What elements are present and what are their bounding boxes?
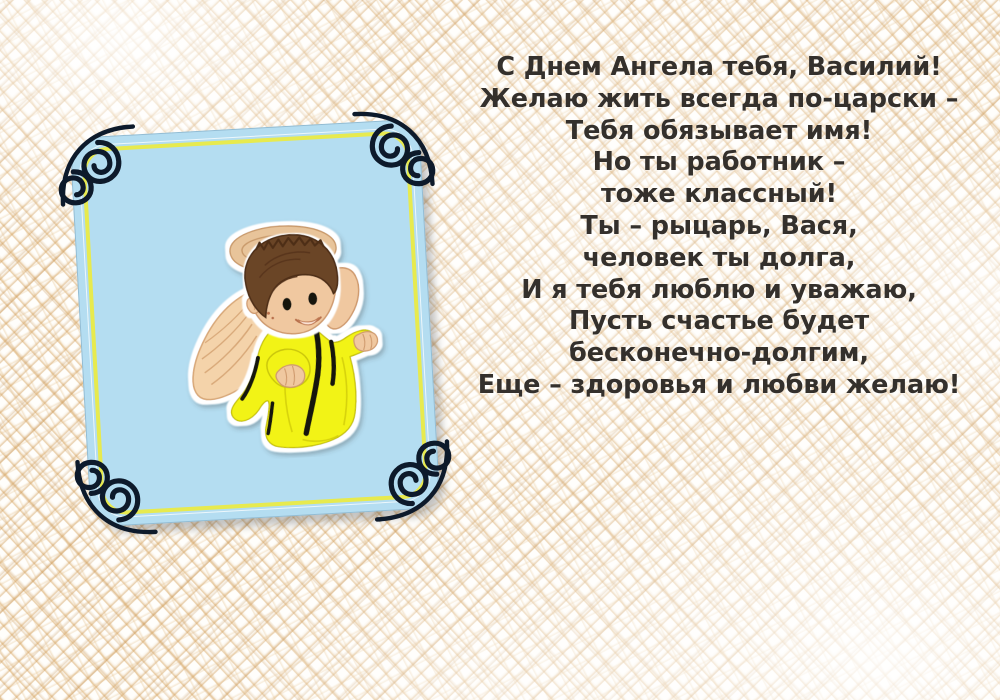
card-body [69, 119, 440, 528]
baby-angel-figure [166, 202, 408, 464]
verse-line-4: Но ты работник – [452, 147, 986, 179]
card-face [69, 119, 440, 528]
corner-spiral-ornament-bottom-left [65, 452, 162, 549]
verse-line-10: бесконечно-долгим, [452, 338, 986, 370]
verse-line-8: И я тебя люблю и уважаю, [452, 275, 986, 307]
angel-illustration-card [52, 112, 462, 542]
verse-line-1: С Днем Ангела тебя, Василий! [452, 52, 986, 84]
verse-line-11: Еще – здоровья и любви желаю! [452, 370, 986, 402]
corner-spiral-ornament-top-right [348, 97, 445, 194]
verse-line-6: Ты – рыцарь, Вася, [452, 211, 986, 243]
verse-line-7: человек ты долга, [452, 243, 986, 275]
corner-spiral-ornament-top-left [46, 114, 143, 211]
greeting-verse: С Днем Ангела тебя, Василий! Желаю жить … [452, 52, 986, 402]
greeting-card-canvas: С Днем Ангела тебя, Василий! Желаю жить … [0, 0, 1000, 700]
verse-line-3: Тебя обязывает имя! [452, 116, 986, 148]
verse-line-5: тоже классный! [452, 179, 986, 211]
corner-spiral-ornament-bottom-right [367, 435, 464, 532]
verse-line-9: Пусть счастье будет [452, 306, 986, 338]
verse-line-2: Желаю жить всегда по-царски – [452, 84, 986, 116]
